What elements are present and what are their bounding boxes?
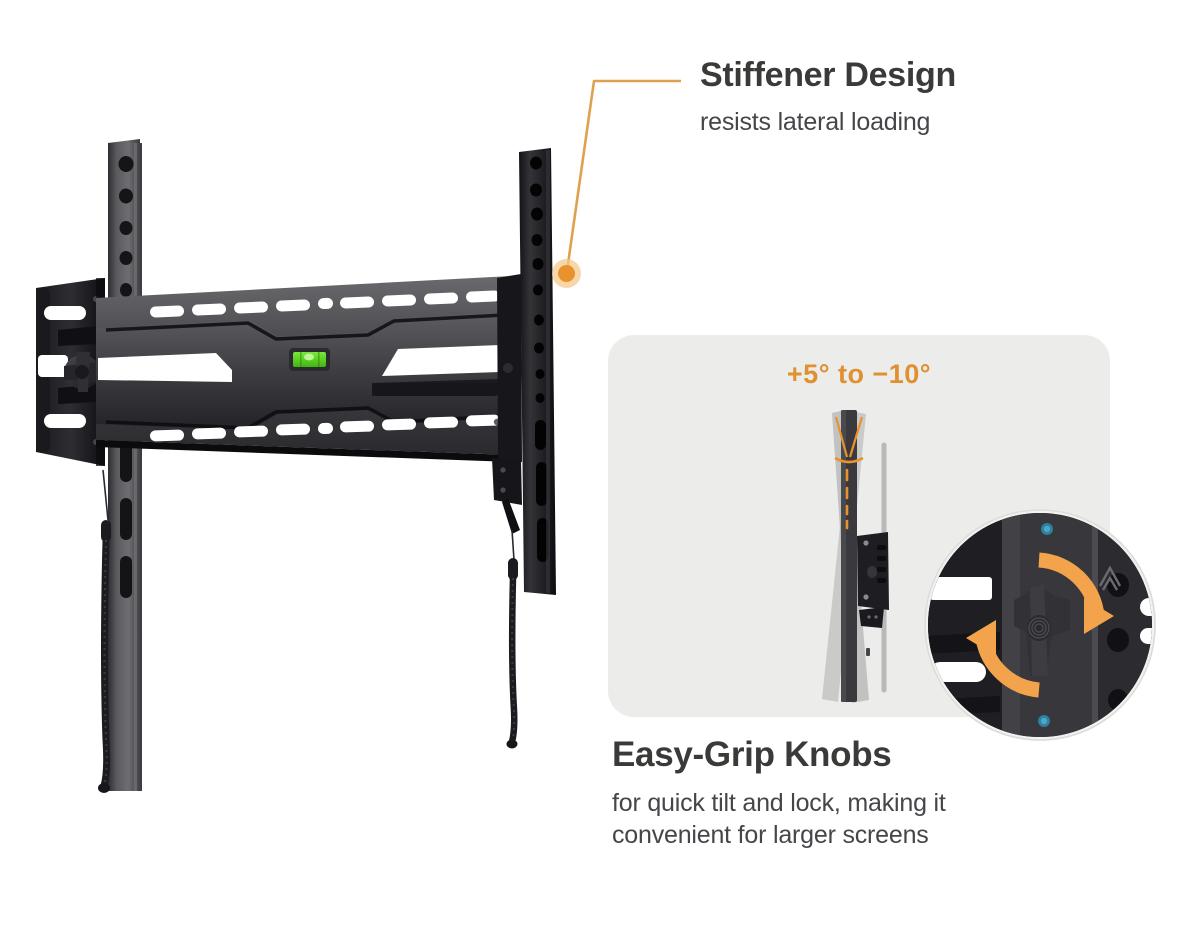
- knobs-subtitle: for quick tilt and lock, making it conve…: [612, 787, 1132, 851]
- knobs-title: Easy-Grip Knobs: [612, 737, 1132, 774]
- infographic-canvas: Stiffener Design resists lateral loading…: [0, 0, 1200, 934]
- knobs-subtitle-line1: for quick tilt and lock, making it: [612, 787, 1132, 819]
- knobs-subtitle-line2: convenient for larger screens: [612, 819, 1132, 851]
- callout-easy-grip-knobs: Easy-Grip Knobs for quick tilt and lock,…: [612, 737, 1132, 851]
